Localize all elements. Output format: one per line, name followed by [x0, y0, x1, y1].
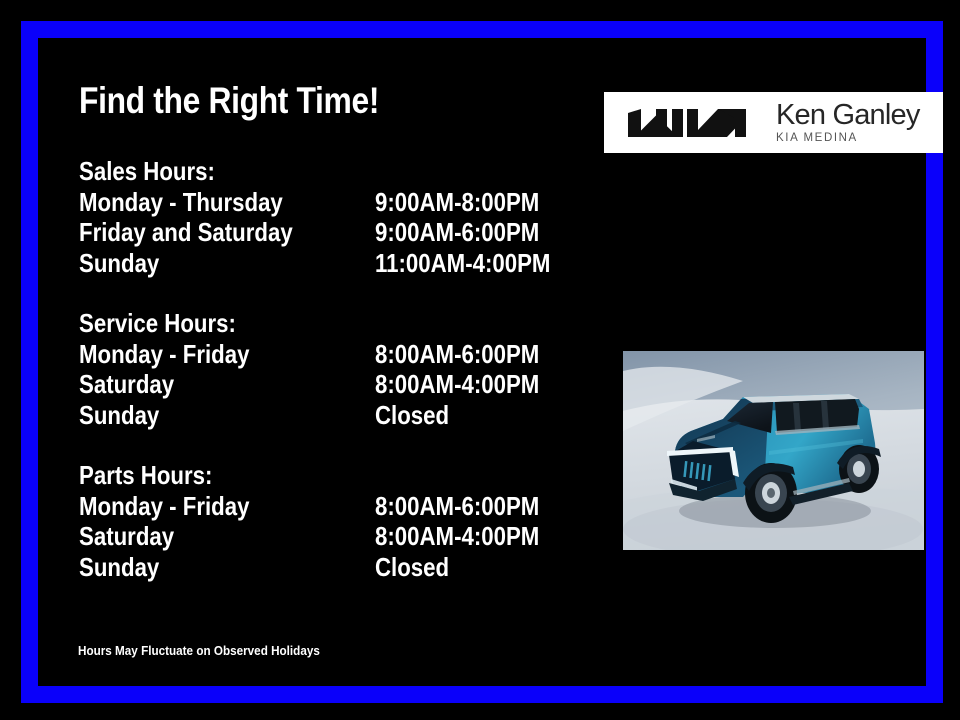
- section-title: Service Hours:: [79, 308, 524, 339]
- hours-row: Sunday Closed: [79, 552, 599, 583]
- hours-section-parts: Parts Hours: Monday - Friday 8:00AM-6:00…: [79, 460, 599, 582]
- hours-time: 8:00AM-6:00PM: [375, 491, 539, 522]
- hours-row: Friday and Saturday 9:00AM-6:00PM: [79, 217, 599, 248]
- dealer-name-block: Ken Ganley KIA MEDINA: [776, 100, 920, 145]
- hours-day: Sunday: [79, 552, 332, 583]
- kia-ev9-suv-photo: [623, 351, 924, 550]
- hours-time: 11:00AM-4:00PM: [375, 248, 550, 279]
- hours-row: Monday - Friday 8:00AM-6:00PM: [79, 491, 599, 522]
- hours-time: Closed: [375, 400, 449, 431]
- hours-time: 8:00AM-4:00PM: [375, 369, 539, 400]
- dealer-name: Ken Ganley: [776, 100, 920, 130]
- hours-section-service: Service Hours: Monday - Friday 8:00AM-6:…: [79, 308, 599, 430]
- dealer-logo-panel: Ken Ganley KIA MEDINA: [604, 92, 943, 153]
- hours-day: Sunday: [79, 400, 332, 431]
- dealer-sublabel: KIA MEDINA: [776, 131, 920, 145]
- slide-content: Find the Right Time! Sales Hours: Monday…: [38, 38, 926, 686]
- hours-row: Sunday Closed: [79, 400, 599, 431]
- hours-time: 8:00AM-6:00PM: [375, 339, 539, 370]
- hours-row: Monday - Thursday 9:00AM-8:00PM: [79, 187, 599, 218]
- hours-listing: Sales Hours: Monday - Thursday 9:00AM-8:…: [79, 156, 599, 582]
- section-title: Sales Hours:: [79, 156, 524, 187]
- hours-section-sales: Sales Hours: Monday - Thursday 9:00AM-8:…: [79, 156, 599, 278]
- slide-canvas: Find the Right Time! Sales Hours: Monday…: [0, 0, 960, 720]
- hours-day: Sunday: [79, 248, 332, 279]
- hours-time: 8:00AM-4:00PM: [375, 521, 539, 552]
- holiday-disclaimer: Hours May Fluctuate on Observed Holidays: [78, 643, 320, 658]
- hours-day: Saturday: [79, 369, 332, 400]
- hours-row: Saturday 8:00AM-4:00PM: [79, 521, 599, 552]
- page-title: Find the Right Time!: [79, 80, 379, 122]
- hours-time: 9:00AM-8:00PM: [375, 187, 539, 218]
- hours-row: Saturday 8:00AM-4:00PM: [79, 369, 599, 400]
- hours-day: Monday - Friday: [79, 339, 332, 370]
- hours-time: 9:00AM-6:00PM: [375, 217, 539, 248]
- hours-time: Closed: [375, 552, 449, 583]
- hours-row: Sunday 11:00AM-4:00PM: [79, 248, 599, 279]
- hours-day: Monday - Friday: [79, 491, 332, 522]
- kia-logo-icon: [624, 106, 748, 140]
- hours-day: Friday and Saturday: [79, 217, 332, 248]
- hours-row: Monday - Friday 8:00AM-6:00PM: [79, 339, 599, 370]
- hours-day: Saturday: [79, 521, 332, 552]
- hours-day: Monday - Thursday: [79, 187, 332, 218]
- section-title: Parts Hours:: [79, 460, 524, 491]
